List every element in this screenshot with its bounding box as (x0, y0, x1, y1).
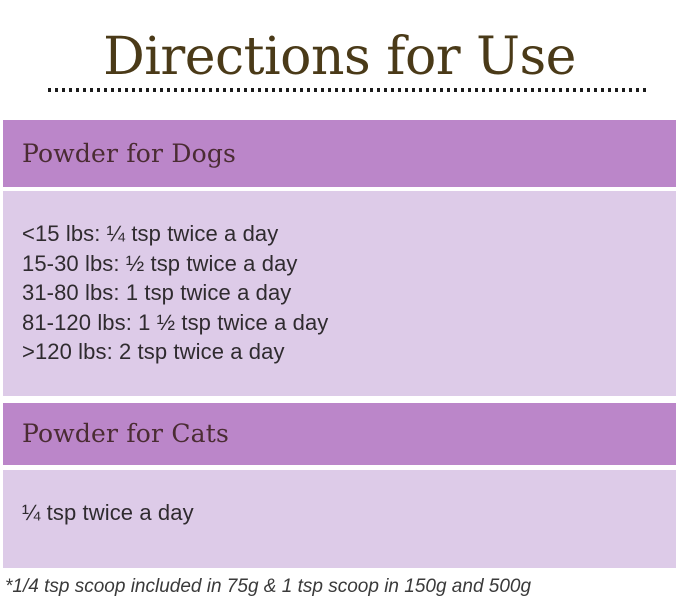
list-item: 31-80 lbs: 1 tsp twice a day (22, 278, 676, 308)
dotted-divider (48, 88, 646, 92)
list-item: >120 lbs: 2 tsp twice a day (22, 337, 676, 367)
list-item: 81-120 lbs: 1 ½ tsp twice a day (22, 308, 676, 338)
page-title: Directions for Use (0, 27, 679, 87)
section-body-dogs: <15 lbs: ¼ tsp twice a day 15-30 lbs: ½ … (3, 191, 676, 396)
list-item: ¼ tsp twice a day (22, 498, 676, 528)
directions-for-use-page: Directions for Use Powder for Dogs <15 l… (0, 0, 679, 602)
dosage-list-dogs: <15 lbs: ¼ tsp twice a day 15-30 lbs: ½ … (3, 191, 676, 367)
section-header-cats: Powder for Cats (3, 403, 676, 465)
list-item: <15 lbs: ¼ tsp twice a day (22, 219, 676, 249)
section-header-label-cats: Powder for Cats (3, 420, 229, 448)
section-body-cats: ¼ tsp twice a day (3, 470, 676, 568)
dosage-list-cats: ¼ tsp twice a day (3, 470, 676, 528)
section-header-dogs: Powder for Dogs (3, 120, 676, 187)
footnote-text: *1/4 tsp scoop included in 75g & 1 tsp s… (5, 575, 531, 599)
section-header-label-dogs: Powder for Dogs (3, 140, 236, 168)
list-item: 15-30 lbs: ½ tsp twice a day (22, 249, 676, 279)
